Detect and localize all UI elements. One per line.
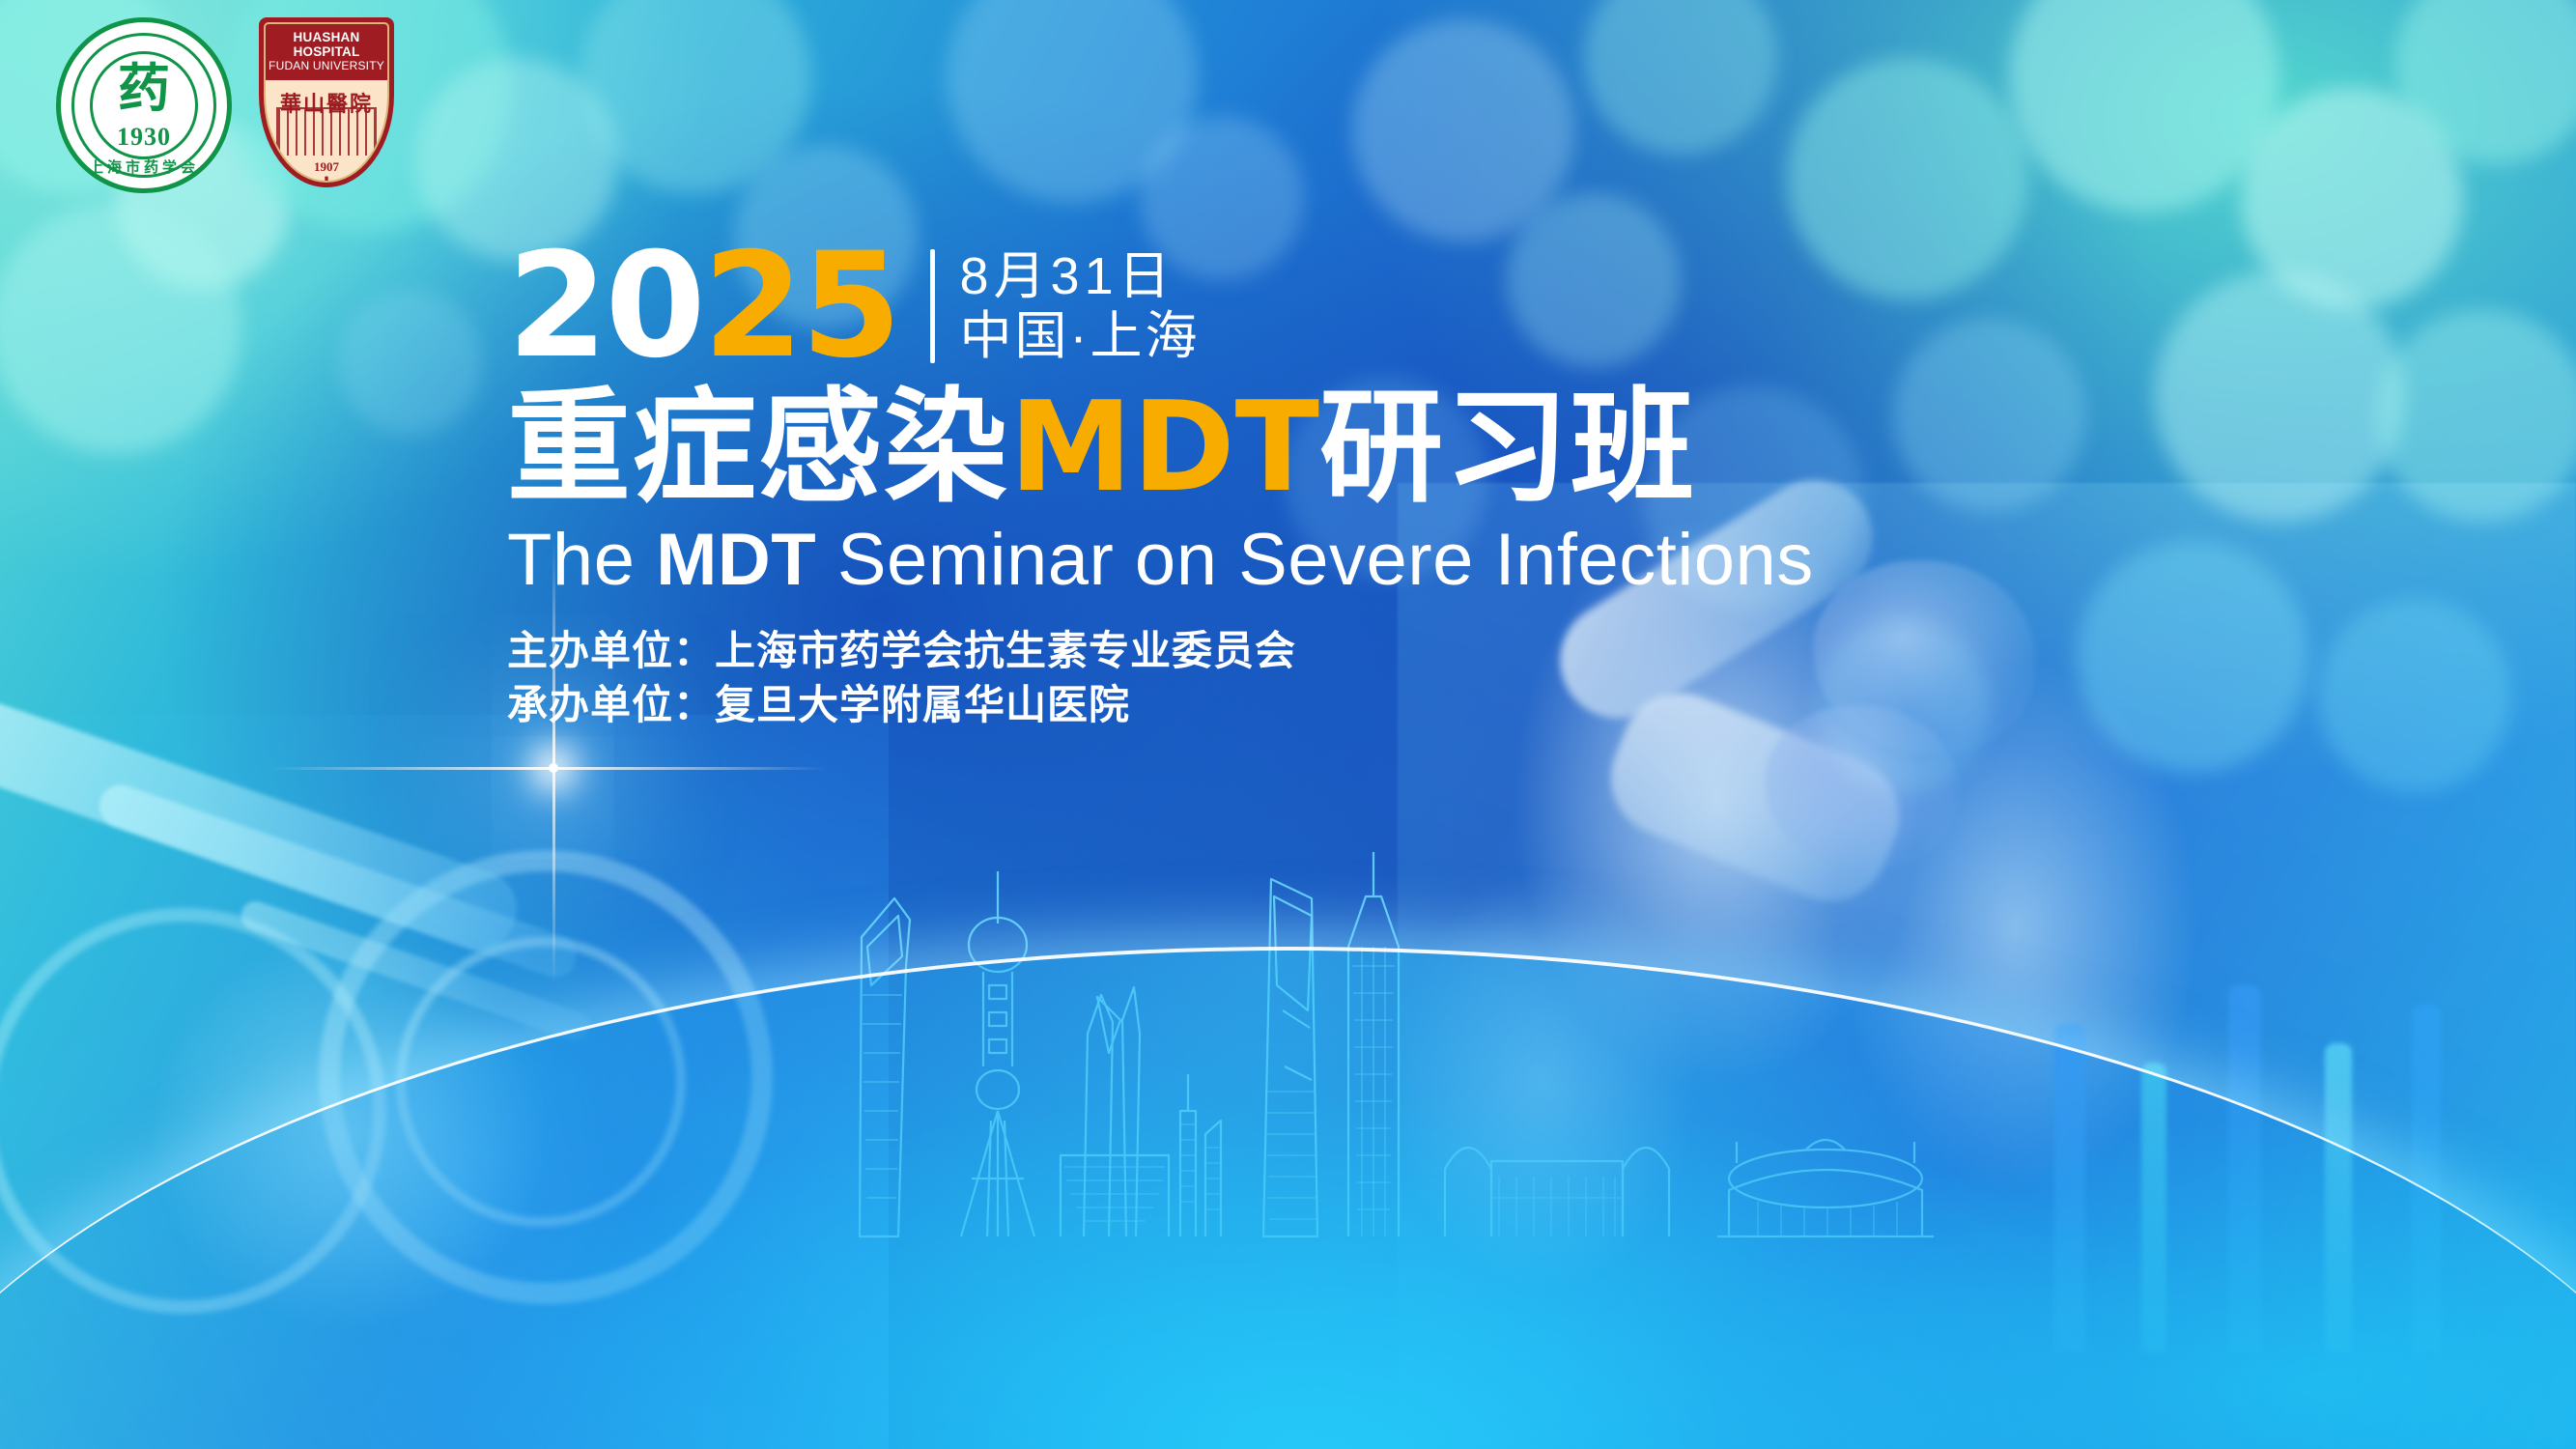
year-prefix: 20 <box>507 222 703 390</box>
organizer-block: 主办单位：上海市药学会抗生素专业委员会 承办单位：复旦大学附属华山医院 <box>507 624 1814 733</box>
date-location-column: 8月31日 中国·上海 <box>960 248 1201 365</box>
vertical-divider <box>930 249 935 363</box>
huashan-building-illustration <box>276 107 377 156</box>
title-cn-mdt: MDT <box>1009 376 1319 520</box>
huashan-shield-inner: HUASHAN HOSPITAL FUDAN UNIVERSITY 華山醫院 1… <box>264 22 389 183</box>
logo-group: 药 1930 上海市药学会 HUASHAN HOSPITAL FUDAN UNI… <box>56 17 394 193</box>
title-en-rest: Seminar on Severe Infections <box>816 519 1814 601</box>
huashan-english-name: HUASHAN HOSPITAL <box>268 30 385 59</box>
huashan-founding-year: 1907 <box>266 159 387 175</box>
pharmacy-glyph-icon: 药 <box>118 63 170 115</box>
year-date-row: 2025 8月31日 中国·上海 <box>507 240 1814 373</box>
association-name-arc: 上海市药学会 <box>61 156 227 177</box>
event-location: 中国·上海 <box>960 308 1201 364</box>
title-en-mdt: MDT <box>656 519 816 601</box>
title-en-the: The <box>507 519 656 601</box>
huashan-hospital-logo: HUASHAN HOSPITAL FUDAN UNIVERSITY 華山醫院 1… <box>259 17 394 187</box>
event-date: 8月31日 <box>960 248 1201 304</box>
association-founding-year: 1930 <box>61 123 227 152</box>
main-title-english: The MDT Seminar on Severe Infections <box>507 522 1814 599</box>
shanghai-pharmaceutical-association-logo: 药 1930 上海市药学会 <box>56 17 232 193</box>
lens-flare-starburst-icon <box>549 763 558 773</box>
huashan-banner: HUASHAN HOSPITAL FUDAN UNIVERSITY <box>266 24 387 80</box>
organizer-host: 主办单位：上海市药学会抗生素专业委员会 <box>507 624 1814 678</box>
title-cn-part2: 研习班 <box>1319 379 1696 517</box>
light-arc-horizon <box>0 947 2576 1449</box>
event-poster: 药 1930 上海市药学会 HUASHAN HOSPITAL FUDAN UNI… <box>0 0 2576 1449</box>
year-suffix: 25 <box>703 222 899 390</box>
organizer-undertaker: 承办单位：复旦大学附属华山医院 <box>507 678 1814 732</box>
event-year: 2025 <box>507 240 899 373</box>
title-cn-part1: 重症感染 <box>507 379 1009 517</box>
main-title-chinese: 重症感染MDT研习班 <box>507 386 1814 510</box>
huashan-university-name: FUDAN UNIVERSITY <box>268 59 385 72</box>
medical-cross-icon: ✚ <box>320 175 333 183</box>
poster-text-block: 2025 8月31日 中国·上海 重症感染MDT研习班 The MDT Semi… <box>507 240 1814 732</box>
